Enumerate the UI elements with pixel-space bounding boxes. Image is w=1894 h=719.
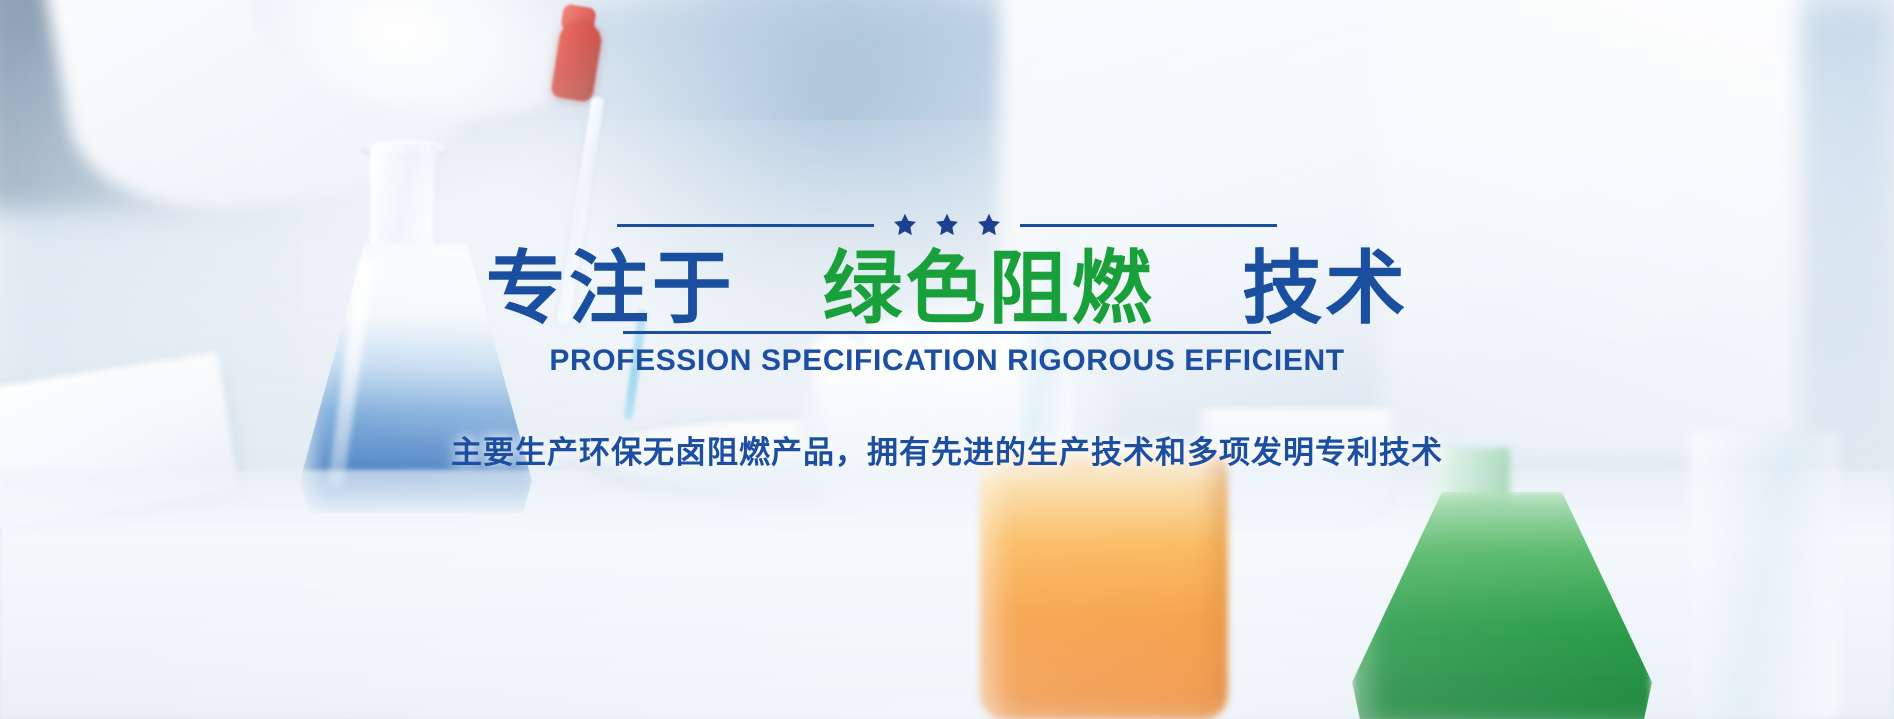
- title-part-3: 技术: [1242, 242, 1408, 335]
- title-part-2-highlight: 绿色阻燃: [823, 242, 1155, 335]
- banner-title: 专注于 绿色阻燃 技术: [486, 196, 1408, 338]
- hero-banner: 专注于 绿色阻燃 技术 PROFESSION SPECIFICATION RIG…: [0, 0, 1894, 719]
- banner-subtitle-en: PROFESSION SPECIFICATION RIGOROUS EFFICI…: [549, 344, 1344, 378]
- title-part-1: 专注于: [486, 242, 735, 335]
- banner-content: 专注于 绿色阻燃 技术 PROFESSION SPECIFICATION RIG…: [0, 0, 1894, 719]
- banner-description-cn: 主要生产环保无卤阻燃产品，拥有先进的生产技术和多项发明专利技术: [451, 427, 1443, 472]
- title-underline: [623, 331, 1271, 334]
